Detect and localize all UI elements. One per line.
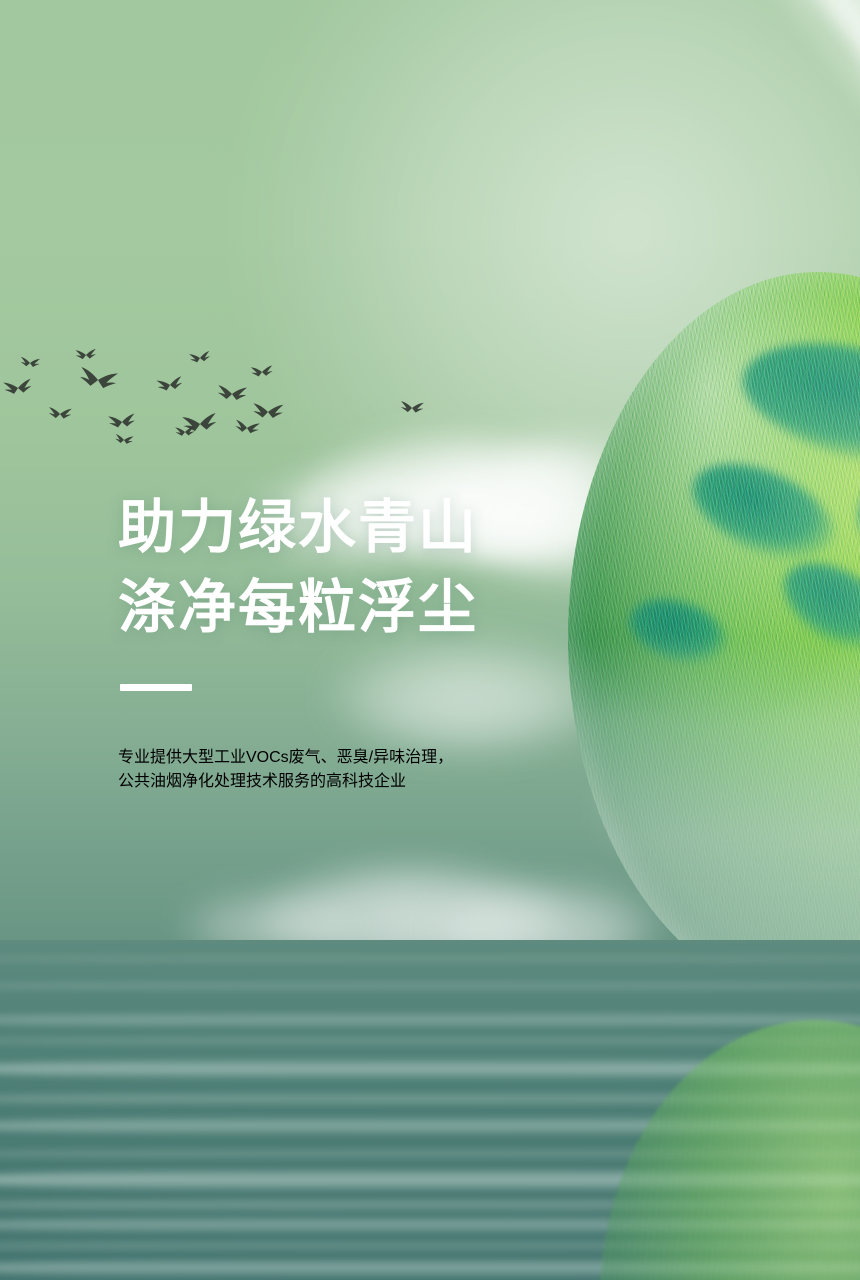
globe-water-reflection — [600, 1020, 860, 1280]
headline-line-1: 助力绿水青山 — [118, 488, 738, 568]
subtitle-line-2: 公共油烟净化处理技术服务的高科技企业 — [118, 767, 738, 791]
reflection-grass-texture — [600, 1020, 860, 1280]
water-ripple — [0, 980, 860, 992]
hero-content: 助力绿水青山 涤净每粒浮尘 专业提供大型工业VOCs废气、恶臭/异味治理， 公共… — [118, 488, 738, 807]
headline-line-2: 涤净每粒浮尘 — [118, 568, 738, 648]
eco-hero-poster: 助力绿水青山 涤净每粒浮尘 专业提供大型工业VOCs废气、恶臭/异味治理， 公共… — [0, 0, 860, 1280]
water-ripple — [0, 954, 860, 964]
subtitle-line-1: 专业提供大型工业VOCs废气、恶臭/异味治理， — [118, 743, 738, 767]
accent-divider — [120, 684, 192, 691]
